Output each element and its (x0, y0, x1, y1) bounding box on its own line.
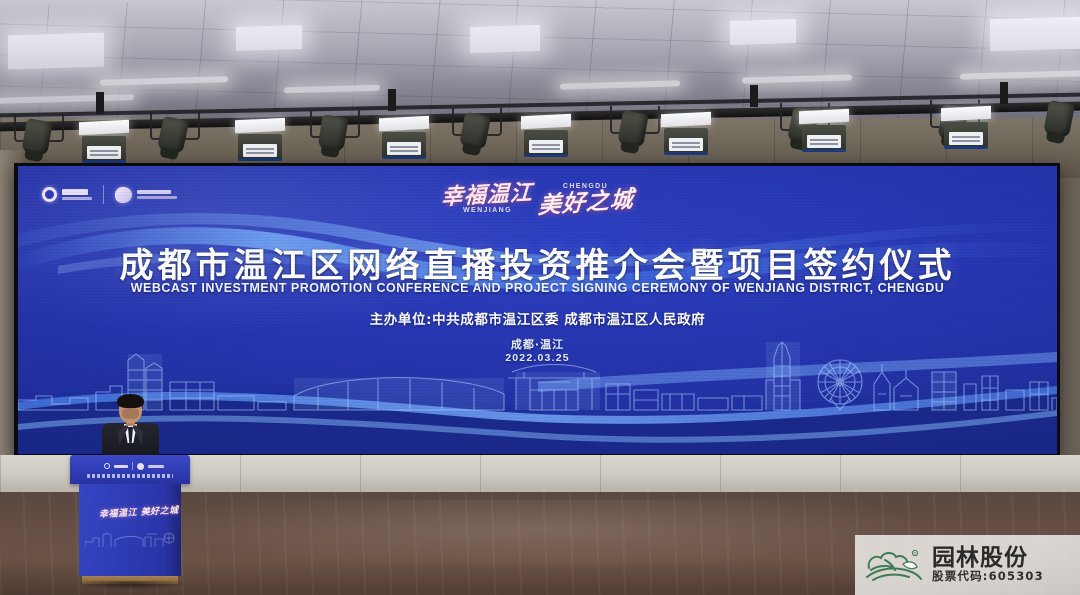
barndoor-flap (799, 109, 849, 125)
city-skyline-graphic (18, 338, 1057, 416)
podium-wordmark-line (114, 465, 128, 468)
podium-calligraphy: 幸福温江 美好之城 (99, 503, 179, 520)
stage-fresnel-light (524, 124, 568, 154)
event-calligraphy-logo: 幸福温江 WENJIANG CHENGDU 美好之城 (18, 183, 1057, 214)
fixture-lens (529, 140, 563, 153)
fixture-body (802, 125, 846, 152)
speaker-hair (117, 394, 144, 408)
floor-reflection (150, 500, 930, 570)
fixture-body (82, 136, 126, 163)
event-title-english: WEBCAST INVESTMENT PROMOTION CONFERENCE … (18, 281, 1057, 295)
barndoor-flap (941, 106, 991, 122)
podium-blossom-icon (137, 463, 144, 470)
speaker-figure (100, 396, 160, 458)
truss-drop-pole (96, 92, 104, 114)
truss-drop-pole (388, 89, 396, 111)
watermark-stock-code: 股票代码:605303 (932, 571, 1044, 583)
barndoor-flap (661, 112, 711, 128)
truss-drop-pole (750, 85, 758, 107)
podium-logos (104, 462, 164, 470)
podium-body: 幸福温江 美好之城 (79, 484, 181, 576)
podium-top-panel (70, 455, 190, 484)
truss-drop-pole (1000, 82, 1008, 104)
fixture-lens (949, 132, 983, 145)
fixture-lens (87, 146, 121, 159)
stage-fresnel-light (944, 116, 988, 146)
fixture-body (524, 130, 568, 157)
fixture-body (382, 132, 426, 159)
barndoor-flap (379, 116, 429, 132)
fixture-lens (387, 142, 421, 155)
calligraphy-phrase-2: 美好之城 (537, 188, 634, 218)
calligraphy-phrase-1: 幸福温江 (441, 182, 534, 209)
fixture-lens (243, 144, 277, 157)
broadcaster-watermark: R 园林股份 股票代码:605303 (855, 535, 1080, 595)
stage-fresnel-light (238, 128, 282, 158)
podium-logo-divider (132, 462, 133, 470)
yuanlin-logo-icon: R (863, 544, 925, 586)
barndoor-flap (79, 120, 129, 136)
fixture-lens (669, 138, 703, 151)
podium-shadow (74, 581, 186, 590)
barndoor-flap (235, 118, 285, 134)
watermark-company-name: 园林股份 (932, 547, 1044, 570)
led-screen: 幸福温江 WENJIANG CHENGDU 美好之城 成都市温江区网络直播投资推… (18, 166, 1057, 454)
calligraphy-latin-wenjiang: WENJIANG (463, 207, 512, 214)
stage-scene: 幸福温江 WENJIANG CHENGDU 美好之城 成都市温江区网络直播投资推… (0, 0, 1080, 595)
fixture-body (238, 134, 282, 161)
watermark-text-block: 园林股份 股票代码:605303 (932, 547, 1044, 583)
podium: 幸福温江 美好之城 (70, 455, 190, 585)
fixture-body (944, 122, 988, 149)
speaker-face-shadow (122, 408, 139, 419)
barndoor-flap (521, 114, 571, 130)
podium-banner-text (87, 474, 173, 478)
podium-wordmark-line (148, 465, 164, 468)
event-title-chinese: 成都市温江区网络直播投资推介会暨项目签约仪式 (18, 238, 1057, 287)
fixture-body (664, 128, 708, 155)
stage-fresnel-light (382, 126, 426, 156)
event-organizer-line: 主办单位:中共成都市温江区委 成都市温江区人民政府 (18, 308, 1057, 328)
stage-fresnel-light (664, 122, 708, 152)
podium-chengdu-ring-icon (104, 463, 110, 469)
stage-fresnel-light (82, 130, 126, 160)
fixture-lens (807, 135, 841, 148)
stage-fresnel-light (802, 119, 846, 149)
podium-skyline-graphic (85, 528, 175, 548)
